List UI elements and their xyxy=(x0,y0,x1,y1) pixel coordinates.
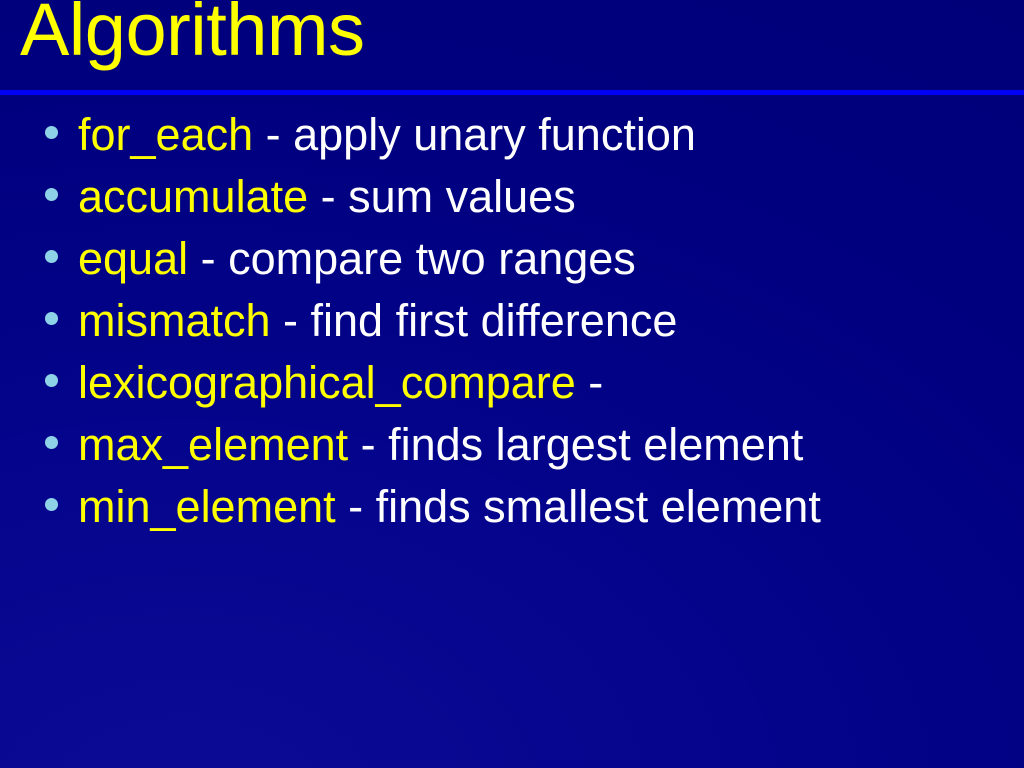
algorithm-description: - xyxy=(576,357,604,408)
list-item-text: mismatch - find first difference xyxy=(78,290,1024,352)
list-item: accumulate - sum values xyxy=(0,166,1024,228)
algorithm-description: - apply unary function xyxy=(253,109,696,160)
list-item-text: equal - compare two ranges xyxy=(78,228,1024,290)
algorithm-name: mismatch xyxy=(78,295,271,346)
bullet-point-icon xyxy=(45,250,58,263)
bullet-point-icon xyxy=(45,312,58,325)
algorithm-description: - compare two ranges xyxy=(188,233,636,284)
algorithm-name: lexicographical_compare xyxy=(78,357,576,408)
slide-header: Algorithms xyxy=(0,0,1024,92)
bullet-point-icon xyxy=(45,436,58,449)
list-item-text: max_element - finds largest element xyxy=(78,414,1024,476)
list-item-text: accumulate - sum values xyxy=(78,166,1024,228)
bullet-point-icon xyxy=(45,374,58,387)
bullet-point-icon xyxy=(45,498,58,511)
list-item: lexicographical_compare - xyxy=(0,352,1024,414)
algorithm-description: - find first difference xyxy=(271,295,678,346)
bullet-point-icon xyxy=(45,126,58,139)
algorithm-name: for_each xyxy=(78,109,253,160)
list-item-text: min_element - finds smallest element xyxy=(78,476,1024,538)
title-divider-rule xyxy=(0,90,1024,95)
algorithm-name: accumulate xyxy=(78,171,308,222)
algorithm-name: max_element xyxy=(78,419,348,470)
algorithm-name: equal xyxy=(78,233,188,284)
list-item: min_element - finds smallest element xyxy=(0,476,1024,538)
list-item: mismatch - find first difference xyxy=(0,290,1024,352)
list-item: for_each - apply unary function xyxy=(0,104,1024,166)
algorithm-description: - finds smallest element xyxy=(336,481,821,532)
page-title: Algorithms xyxy=(20,0,365,67)
algorithm-name: min_element xyxy=(78,481,336,532)
list-item-text: lexicographical_compare - xyxy=(78,352,1024,414)
presentation-slide: Algorithms for_each - apply unary functi… xyxy=(0,0,1024,768)
algorithm-description: - sum values xyxy=(308,171,576,222)
list-item-text: for_each - apply unary function xyxy=(78,104,1024,166)
algorithm-description: - finds largest element xyxy=(348,419,803,470)
algorithm-bullet-list: for_each - apply unary function accumula… xyxy=(0,104,1024,538)
list-item: max_element - finds largest element xyxy=(0,414,1024,476)
list-item: equal - compare two ranges xyxy=(0,228,1024,290)
bullet-point-icon xyxy=(45,188,58,201)
